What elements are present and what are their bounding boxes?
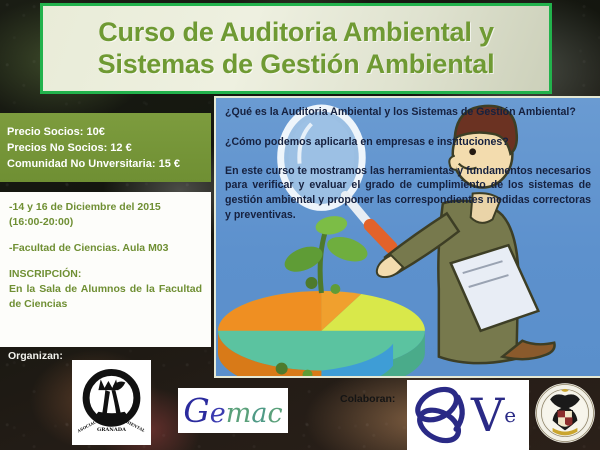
content-panel: ¿Qué es la Auditoria Ambiental y los Sis… — [214, 96, 600, 378]
organizan-label: Organizan: — [8, 350, 63, 362]
ugr-seal-icon — [534, 382, 596, 444]
price-no-socios: Precios No Socios: 12 € — [7, 140, 204, 156]
wolf-logo-icon: GRANADA ASOCIACIÓN AMBIENTAL — [73, 361, 150, 444]
gemac-letter-e: e — [210, 398, 226, 429]
cve-letter-e: e — [504, 405, 516, 425]
course-time: (16:00-20:00) — [9, 215, 202, 230]
poster-root: Curso de Auditoria Ambiental y Sistemas … — [0, 0, 600, 450]
gemac-letter-c: c — [267, 398, 282, 429]
gemac-letter-m: m — [226, 398, 252, 429]
page-title-line1: Curso de Auditoria Ambiental y — [98, 17, 494, 49]
price-socios: Precio Socios: 10€ — [7, 124, 204, 140]
price-comunidad: Comunidad No Unversitaria: 15 € — [7, 156, 204, 172]
course-dates: -14 y 16 de Diciembre del 2015 — [9, 200, 202, 215]
question-2: ¿Cómo podemos aplicarla en empresas e in… — [225, 135, 591, 150]
gemac-letter-a: a — [251, 398, 267, 429]
title-banner: Curso de Auditoria Ambiental y Sistemas … — [40, 3, 552, 94]
price-box: Precio Socios: 10€ Precios No Socios: 12… — [0, 113, 211, 182]
logo-universidad-granada — [534, 382, 596, 444]
course-description: En este curso te mostramos las herramien… — [225, 164, 591, 223]
gemac-wordmark: Gemac — [183, 394, 282, 427]
info-panel: -14 y 16 de Diciembre del 2015 (16:00-20… — [0, 192, 211, 347]
logo-cve: Ve — [407, 380, 529, 450]
cve-letter-v: V — [471, 392, 504, 438]
question-1: ¿Qué es la Auditoria Ambiental y los Sis… — [225, 105, 591, 120]
page-title-line2: Sistemas de Gestión Ambiental — [98, 49, 495, 81]
pie-chart-plant-illustration — [218, 214, 425, 378]
colaboran-label: Colaboran: — [340, 393, 395, 405]
gemac-letter-g: G — [183, 391, 209, 430]
wolf-logo-bottom-text: GRANADA — [97, 427, 126, 433]
cve-swirl-icon — [407, 382, 473, 448]
logo-gemac: Gemac — [178, 388, 288, 433]
inscription-text: En la Sala de Alumnos de la Facultad de … — [9, 282, 202, 312]
inscription-label: INSCRIPCIÓN: — [9, 267, 202, 282]
logo-asociacion-ambiental-granada: GRANADA ASOCIACIÓN AMBIENTAL — [72, 360, 151, 445]
course-venue: -Facultad de Ciencias. Aula M03 — [9, 241, 202, 256]
